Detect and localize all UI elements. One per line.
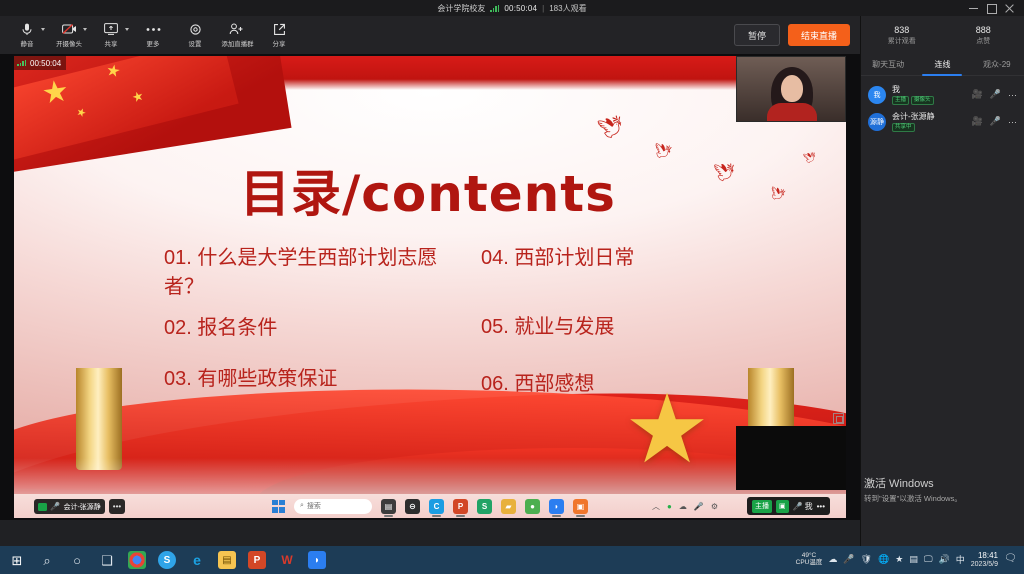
host-badge: 主播 (752, 500, 772, 513)
shared-screen[interactable]: ★ ★ ★ ★ 🕊 🕊 🕊 🕊 🕊 目录/contents 01. 什么是大学生… (14, 56, 846, 518)
viewer-count: 183人观看 (549, 3, 586, 14)
edge-icon[interactable]: C (429, 499, 444, 514)
windows-activation-watermark: 激活 Windows 转到"设置"以激活 Windows。 (864, 475, 1014, 504)
dove-icon: 🕊 (769, 187, 786, 202)
participant-controls: 🎥 🎤 ··· (972, 116, 1017, 127)
live-streaming-app-window: 会计学院校友 00:50:04 | 183人观看 静音 (0, 0, 1024, 574)
stream-timer: 00:50:04 (14, 56, 66, 70)
excel-icon[interactable]: S (477, 499, 492, 514)
mic-label: 我 (805, 501, 813, 512)
participant-info: 会计-张源静 共享中 (892, 111, 966, 132)
status-badge: 主播 (892, 96, 909, 105)
powerpoint-icon[interactable]: P (453, 499, 468, 514)
more-label: 更多 (147, 39, 160, 48)
tab-chat[interactable]: 聊天互动 (861, 54, 915, 75)
search-icon: ⌕ (300, 502, 304, 510)
task-view-icon[interactable]: ❑ (92, 546, 122, 574)
close-icon[interactable] (1005, 4, 1014, 13)
add-person-icon (229, 22, 245, 37)
avatar: 源静 (868, 113, 886, 131)
participant-controls: 🎥 🎤 ··· (972, 89, 1017, 100)
main-toolbar: 静音 开摄像头 共享 更多 (0, 16, 860, 54)
name-tag-more-button[interactable]: ••• (109, 499, 125, 514)
person-body (767, 103, 817, 122)
minimize-icon[interactable] (969, 4, 978, 13)
meeting-info: 会计学院校友 00:50:04 | 183人观看 (437, 3, 586, 14)
more-icon[interactable]: ··· (1008, 117, 1017, 127)
start-icon[interactable]: ⊞ (2, 546, 32, 574)
list-item[interactable]: 我 我 主播 摄像头 🎥 🎤 ··· (861, 81, 1024, 108)
watermark-subtitle: 转到"设置"以激活 Windows。 (864, 493, 1014, 504)
inner-windows-taskbar: ⌕ 搜索 ▤ ⊖ C P S ▰ ● ◗ ▣ ︿ ● ☁ (14, 494, 846, 518)
dove-icon: 🕊 (803, 153, 818, 166)
monitor-icon[interactable]: 🖵 (924, 554, 933, 565)
microphone-icon[interactable]: 🎤 (990, 89, 1001, 100)
file-explorer-icon[interactable]: ▤ (212, 546, 242, 574)
star-icon: ★ (40, 76, 71, 109)
powerpoint-icon[interactable]: P (242, 546, 272, 574)
search-placeholder: 搜索 (307, 501, 321, 511)
camera-icon[interactable]: 🎥 (972, 116, 983, 127)
internet-explorer-icon[interactable]: e (182, 546, 212, 574)
participant-list: 我 我 主播 摄像头 🎥 🎤 ··· 源静 会计-张源静 (861, 76, 1024, 140)
notification-icon[interactable]: 🗨 (1004, 553, 1018, 567)
window-controls (969, 0, 1020, 16)
mute-label: 静音 (21, 39, 34, 48)
display-icon[interactable]: ▤ (909, 554, 918, 565)
green-dot-icon[interactable]: ● (667, 502, 672, 511)
clock[interactable]: 18:41 2023/5/9 (971, 551, 998, 568)
add-live-group-label: 添加直播群 (221, 39, 253, 48)
side-panel: 838 累计观看 888 点赞 聊天互动 连线 观众-29 我 我 主播 摄像头 (860, 16, 1024, 546)
clock-time: 18:41 (978, 551, 998, 560)
watermark-title: 激活 Windows (864, 475, 1014, 491)
wechat-icon[interactable]: ● (525, 499, 540, 514)
share-label: 共享 (105, 39, 118, 48)
participant-name: 我 (892, 84, 966, 95)
participant-name: 会计-张源静 (892, 111, 966, 122)
settings-label: 设置 (189, 39, 202, 48)
share-link-label: 分享 (273, 39, 286, 48)
tab-connect[interactable]: 连线 (915, 54, 969, 75)
expand-icon[interactable] (833, 413, 844, 424)
participant-tags: 共享中 (892, 123, 966, 132)
settings-icon[interactable]: ⚙ (711, 502, 718, 511)
add-live-group-button[interactable]: 添加直播群 (216, 16, 258, 54)
avatar: 我 (868, 86, 886, 104)
sogou-browser-icon[interactable]: S (152, 546, 182, 574)
microphone-icon[interactable]: 🎤 (694, 502, 704, 511)
list-item[interactable]: 源静 会计-张源静 共享中 🎥 🎤 ··· (861, 108, 1024, 135)
slide-title: 目录/contents (240, 154, 616, 226)
meeting-app-icon[interactable]: ◗ (302, 546, 332, 574)
ellipsis-icon (146, 22, 161, 37)
cpu-temp-label: CPU温度 (796, 560, 823, 567)
chevron-up-icon[interactable]: ︿ (652, 501, 660, 512)
star-icon: ★ (105, 63, 122, 81)
secondary-video-preview[interactable] (736, 426, 846, 490)
cloud-icon[interactable]: ☁ (679, 502, 687, 511)
likes-stat: 888 点赞 (943, 16, 1024, 54)
network-icon[interactable]: 🌐 (878, 554, 889, 565)
signal-strength-icon (490, 5, 499, 12)
meeting-icon[interactable]: ◗ (549, 499, 564, 514)
end-live-button[interactable]: 结束直播 (788, 24, 850, 46)
video-stage: ★ ★ ★ ★ 🕊 🕊 🕊 🕊 🕊 目录/contents 01. 什么是大学生… (0, 54, 860, 520)
live-action-buttons: 暂停 结束直播 (734, 24, 850, 46)
search-icon[interactable]: ⌕ (32, 546, 62, 574)
floating-control-bar[interactable]: 主播 ▣ 🎤我 ••• (747, 497, 830, 515)
presenter-name-tag: 🎤 会计-张源静 (34, 499, 105, 514)
toc-item: 05. 就业与发展 (481, 313, 761, 342)
presentation-slide: ★ ★ ★ ★ 🕊 🕊 🕊 🕊 🕊 目录/contents 01. 什么是大学生… (14, 56, 846, 518)
taskbar-tray: 49°C CPU温度 ☁ 🎤 🛡 🌐 ★ ▤ 🖵 🔊 中 18:41 2023/… (796, 551, 1024, 568)
more-icon[interactable]: ••• (817, 502, 825, 511)
ime-indicator[interactable]: 中 (956, 553, 965, 566)
cumulative-views-value: 838 (894, 25, 909, 35)
maximize-icon[interactable] (987, 4, 996, 13)
volume-icon[interactable]: 🔊 (939, 554, 950, 565)
folder-icon[interactable]: ▰ (501, 499, 516, 514)
share-screen-button[interactable]: 共享 (90, 16, 132, 54)
chrome-icon[interactable] (122, 546, 152, 574)
tab-audience[interactable]: 观众-29 (970, 54, 1024, 75)
taskbar-left: ⊞ ⌕ ○ ❑ S e ▤ P W ◗ (0, 546, 332, 574)
gold-pillar-left (76, 368, 122, 470)
elapsed-time: 00:50:04 (504, 4, 537, 13)
app-circle-icon[interactable]: ⊖ (405, 499, 420, 514)
title-bar: 会计学院校友 00:50:04 | 183人观看 (0, 0, 1024, 16)
microphone-icon[interactable]: 🎤我 (793, 501, 813, 512)
pause-button[interactable]: 暂停 (734, 24, 780, 46)
file-explorer-icon[interactable]: ▤ (381, 499, 396, 514)
meeting-title: 会计学院校友 (437, 3, 485, 14)
timer-value: 00:50:04 (30, 59, 61, 68)
dove-icon: 🕊 (597, 115, 627, 142)
camera-on-icon (38, 503, 47, 511)
person-face (781, 75, 803, 102)
windows-taskbar: ⊞ ⌕ ○ ❑ S e ▤ P W ◗ 49°C CPU温度 ☁ 🎤 🛡 🌐 ★… (0, 546, 1024, 574)
separator: | (542, 4, 544, 13)
status-badge: 共享中 (892, 123, 915, 132)
shield-icon[interactable]: 🛡 (861, 554, 872, 565)
inner-taskbar-center: ⌕ 搜索 ▤ ⊖ C P S ▰ ● ◗ ▣ (272, 499, 588, 514)
dove-icon: 🕊 (713, 163, 736, 182)
self-video-preview[interactable] (736, 56, 846, 122)
mute-button[interactable]: 静音 (6, 16, 48, 54)
star-icon[interactable]: ★ (895, 554, 903, 565)
cortana-icon[interactable]: ○ (62, 546, 92, 574)
toc-item: 04. 西部计划日常 (481, 244, 761, 273)
toc-item: 01. 什么是大学生西部计划志愿者？ (164, 244, 444, 302)
cpu-temperature[interactable]: 49°C CPU温度 (796, 553, 823, 567)
camera-icon[interactable]: 🎥 (972, 89, 983, 100)
microphone-icon[interactable]: 🎤 (843, 554, 854, 565)
share-screen-icon (104, 22, 118, 37)
share-link-button[interactable]: 分享 (258, 16, 300, 54)
dove-icon: 🕊 (653, 143, 673, 159)
microphone-icon (22, 22, 32, 37)
likes-label: 点赞 (976, 36, 990, 46)
inner-taskbar-tray: ︿ ● ☁ 🎤 ⚙ (652, 501, 718, 512)
panel-stats: 838 累计观看 888 点赞 (861, 16, 1024, 54)
clock-date: 2023/5/9 (971, 561, 998, 569)
camera-label: 开摄像头 (56, 39, 82, 48)
microphone-icon[interactable]: 🎤 (990, 116, 1001, 127)
camera-button[interactable]: 开摄像头 (48, 16, 90, 54)
chevron-down-icon[interactable] (83, 28, 87, 31)
status-badge: 摄像头 (911, 96, 934, 105)
more-button[interactable]: 更多 (132, 16, 174, 54)
presenter-name: 会计-张源静 (63, 502, 100, 512)
wps-icon[interactable]: W (272, 546, 302, 574)
more-icon[interactable]: ··· (1008, 90, 1017, 100)
panel-tabs: 聊天互动 连线 观众-29 (861, 54, 1024, 76)
camera-badge[interactable]: ▣ (776, 500, 789, 513)
camera-off-icon (62, 22, 77, 37)
signal-strength-icon (17, 60, 26, 66)
participant-info: 我 主播 摄像头 (892, 84, 966, 105)
search-input[interactable]: ⌕ 搜索 (294, 499, 372, 514)
media-icon[interactable]: ▣ (573, 499, 588, 514)
cumulative-views-label: 累计观看 (888, 36, 916, 46)
microphone-icon: 🎤 (50, 502, 60, 511)
participant-tags: 主播 摄像头 (892, 96, 966, 105)
toolbar-items: 静音 开摄像头 共享 更多 (0, 16, 860, 54)
likes-value: 888 (976, 25, 991, 35)
start-icon[interactable] (272, 500, 285, 513)
cumulative-views-stat: 838 累计观看 (861, 16, 943, 54)
onedrive-icon[interactable]: ☁ (828, 554, 837, 565)
gear-icon (189, 22, 202, 37)
chevron-down-icon[interactable] (125, 28, 129, 31)
external-link-icon (273, 22, 286, 37)
chevron-down-icon[interactable] (41, 28, 45, 31)
settings-button[interactable]: 设置 (174, 16, 216, 54)
toc-item: 02. 报名条件 (164, 314, 444, 343)
